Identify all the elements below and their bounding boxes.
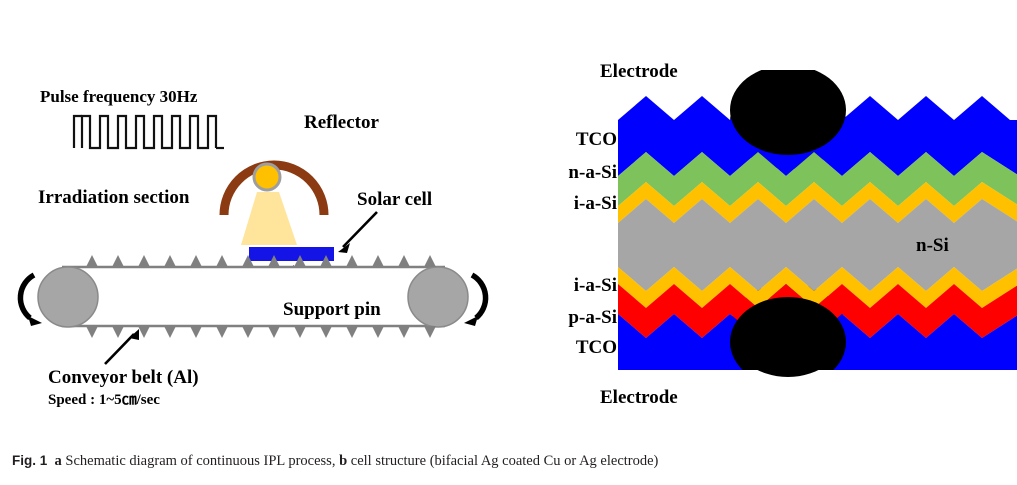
electrode-top-overlay	[730, 65, 846, 155]
light-cone	[241, 192, 297, 245]
caption-text-a: Schematic diagram of continuous IPL proc…	[65, 453, 335, 469]
label-i-a-si-top: i-a-Si	[574, 194, 617, 213]
label-conveyor-belt: Conveyor belt (Al)	[48, 368, 199, 387]
solar-cell-arrow	[338, 212, 377, 253]
label-n-si-substrate: n-Si	[916, 236, 949, 255]
caption-text-b: cell structure (bifacial Ag coated Cu or…	[351, 453, 659, 469]
conveyor-belt	[62, 267, 445, 326]
label-n-a-si: n-a-Si	[568, 163, 617, 182]
caption-marker-b: b	[339, 453, 347, 469]
panel-b-graphic	[500, 0, 1017, 440]
conveyor-belt-arrow	[105, 329, 139, 364]
label-reflector: Reflector	[304, 113, 379, 132]
caption-figure-number: Fig. 1	[12, 453, 47, 468]
label-electrode-top: Electrode	[600, 62, 678, 81]
label-i-a-si-bottom: i-a-Si	[574, 276, 617, 295]
label-electrode-bottom: Electrode	[600, 388, 678, 407]
figure-root: Pulse frequency 30Hz Irradiation section…	[0, 0, 1017, 485]
panel-b-cell-structure	[500, 0, 1017, 440]
pulse-waveform	[74, 116, 224, 148]
label-solar-cell: Solar cell	[357, 190, 432, 209]
label-pulse-frequency: Pulse frequency 30Hz	[40, 88, 197, 105]
layer-stack	[618, 65, 1017, 394]
label-tco-top: TCO	[576, 130, 617, 149]
label-belt-speed: Speed : 1~5㎝/sec	[48, 393, 160, 408]
label-support-pin: Support pin	[283, 300, 381, 319]
panel-a-schematic-ipl-process: Pulse frequency 30Hz Irradiation section…	[0, 0, 500, 440]
figure-caption: Fig. 1 a Schematic diagram of continuous…	[12, 452, 1002, 470]
caption-marker-a: a	[55, 453, 62, 469]
label-irradiation-section: Irradiation section	[38, 188, 189, 207]
label-tco-bottom: TCO	[576, 338, 617, 357]
pulley-left	[38, 267, 98, 327]
pulley-right	[408, 267, 468, 327]
label-p-a-si: p-a-Si	[568, 308, 617, 327]
lamp-icon	[254, 164, 280, 190]
solar-cell-bar	[249, 247, 334, 261]
